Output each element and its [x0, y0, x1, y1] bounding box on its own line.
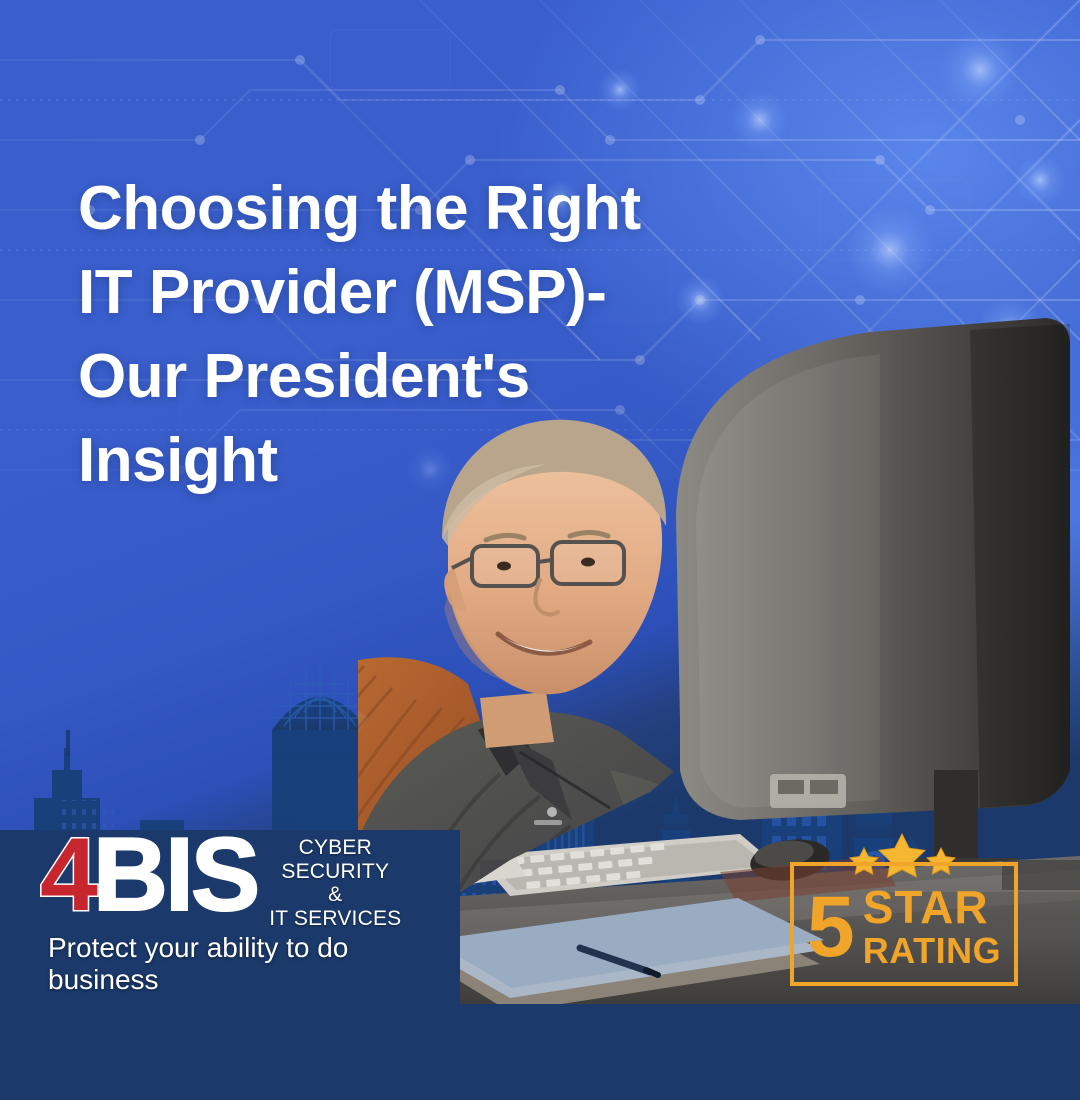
badge-content: 5 STAR RATING: [790, 862, 1018, 986]
logo-wordmark: 4 BIS: [40, 828, 257, 924]
logo-number-4: 4: [40, 828, 95, 924]
five-star-rating-badge[interactable]: 5 STAR RATING: [790, 832, 1022, 992]
logo-wordmark-row: 4 BIS CYBER SECURITY & IT SERVICES: [40, 828, 460, 930]
poster-canvas: Choosing the Right IT Provider (MSP)- Ou…: [0, 0, 1080, 1100]
logo-word-bis: BIS: [93, 828, 257, 924]
badge-words: STAR RATING: [863, 884, 1001, 969]
page-title: Choosing the Right IT Provider (MSP)- Ou…: [78, 167, 758, 504]
brand-logo[interactable]: 4 BIS CYBER SECURITY & IT SERVICES Prote…: [40, 828, 460, 978]
badge-star-label: STAR: [863, 884, 1001, 930]
logo-services-text: CYBER SECURITY & IT SERVICES: [269, 836, 401, 930]
bottom-navy-band: [0, 1004, 1080, 1100]
badge-number: 5: [807, 884, 855, 970]
logo-tagline: Protect your ability to do business: [48, 932, 460, 996]
badge-rating-label: RATING: [863, 933, 1001, 969]
